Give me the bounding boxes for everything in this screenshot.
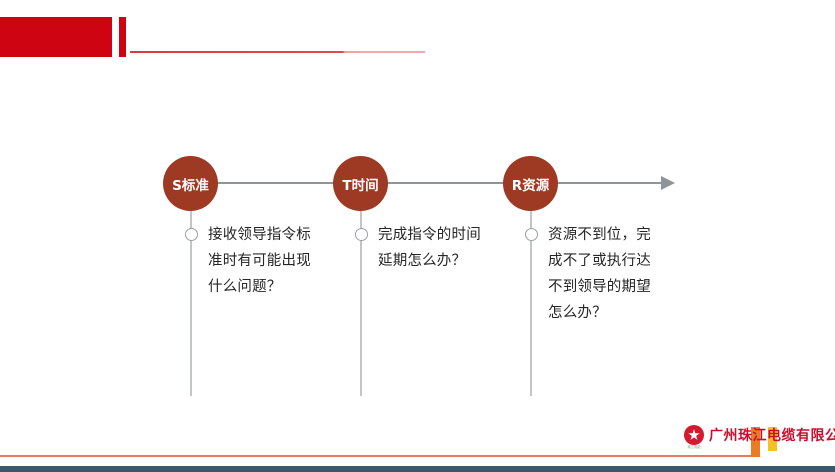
timeline-diagram: S标准 接收领导指令标准时有可能出现什么问题？ T时间 完成指令的时间延期怎么办… bbox=[0, 0, 835, 472]
footer-bottom-bar bbox=[0, 466, 835, 472]
timeline-node-s-label: S标准 bbox=[172, 174, 209, 194]
timeline-stem-t bbox=[360, 196, 362, 396]
company-name: 广州珠江电缆有限公司 bbox=[709, 425, 835, 445]
company-logo-icon: 珠江电缆 bbox=[684, 425, 704, 445]
timeline-axis-line bbox=[190, 182, 668, 184]
timeline-stem-s bbox=[190, 196, 192, 396]
timeline-stem-r bbox=[530, 196, 532, 396]
timeline-node-r[interactable]: R资源 bbox=[503, 156, 558, 211]
timeline-caption-r: 资源不到位，完成不了或执行达不到领导的期望怎么办？ bbox=[548, 222, 660, 326]
footer-brand: 珠江电缆 广州珠江电缆有限公司 bbox=[684, 425, 835, 445]
timeline-node-r-label: R资源 bbox=[512, 174, 549, 194]
timeline-node-t[interactable]: T时间 bbox=[333, 156, 388, 211]
timeline-node-t-label: T时间 bbox=[342, 174, 378, 194]
company-logo-subtext: 珠江电缆 bbox=[684, 445, 704, 450]
bullet-circle-icon-r bbox=[525, 228, 538, 241]
bullet-circle-icon-t bbox=[355, 228, 368, 241]
timeline-node-s[interactable]: S标准 bbox=[163, 156, 218, 211]
arrow-right-icon bbox=[661, 176, 675, 190]
bullet-circle-icon-s bbox=[185, 228, 198, 241]
timeline-caption-s: 接收领导指令标准时有可能出现什么问题？ bbox=[208, 222, 320, 300]
footer-rule bbox=[0, 455, 751, 457]
timeline-caption-t: 完成指令的时间延期怎么办？ bbox=[378, 222, 490, 274]
